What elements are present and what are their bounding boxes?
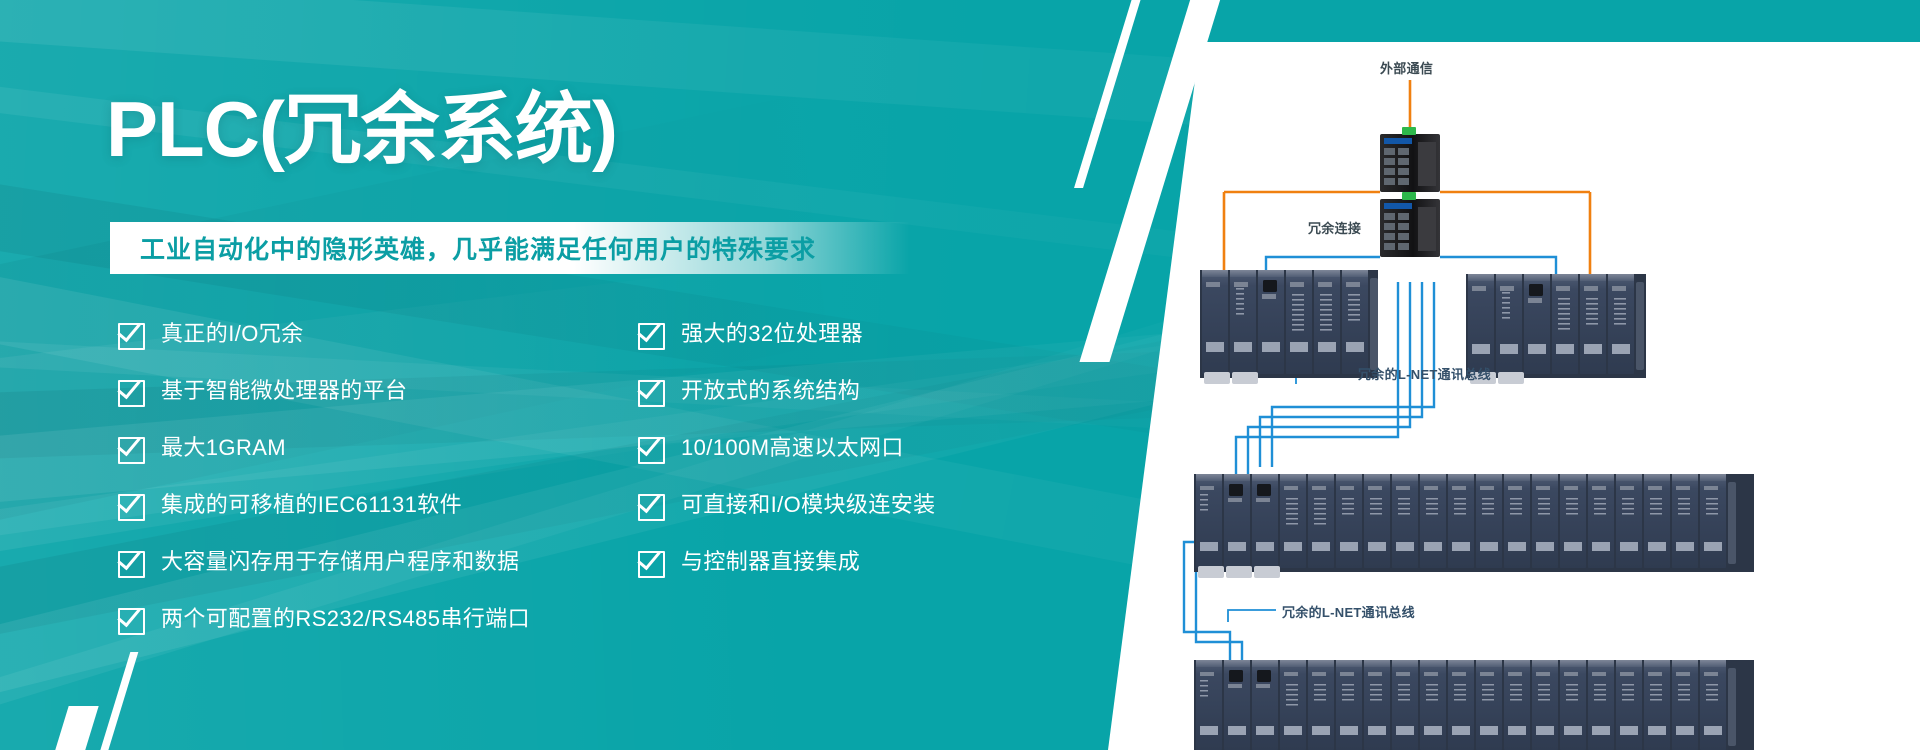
feature-label: 可直接和I/O模块级连安装	[681, 491, 936, 518]
feature-label: 强大的32位处理器	[681, 320, 863, 347]
list-item: 集成的可移植的IEC61131软件	[118, 491, 638, 548]
checkbox-checked-icon	[638, 323, 665, 350]
diagram-svg	[1108, 42, 1920, 750]
feature-label: 大容量闪存用于存储用户程序和数据	[161, 548, 519, 575]
diagram-label-redundant-link: 冗余连接	[1308, 218, 1361, 237]
subtitle-bar: 工业自动化中的隐形英雄，几乎能满足任何用户的特殊要求	[110, 222, 910, 274]
list-item: 最大1GRAM	[118, 434, 638, 491]
feature-label: 基于智能微处理器的平台	[161, 377, 407, 404]
feature-label: 最大1GRAM	[161, 434, 286, 461]
list-item: 与控制器直接集成	[638, 548, 1088, 605]
feature-column-left: 真正的I/O冗余 基于智能微处理器的平台 最大1GRAM 集成的可移植的IEC6…	[118, 320, 638, 662]
list-item: 强大的32位处理器	[638, 320, 1088, 377]
checkbox-checked-icon	[118, 437, 145, 464]
checkbox-checked-icon	[638, 494, 665, 521]
feature-label: 两个可配置的RS232/RS485串行端口	[161, 605, 530, 632]
checkbox-checked-icon	[118, 608, 145, 635]
banner-content: PLC(冗余系统) 工业自动化中的隐形英雄，几乎能满足任何用户的特殊要求 真正的…	[0, 0, 1120, 750]
feature-column-right: 强大的32位处理器 开放式的系统结构 10/100M高速以太网口 可直接和I/O…	[638, 320, 1088, 662]
list-item: 两个可配置的RS232/RS485串行端口	[118, 605, 638, 662]
diagram-label-lnet-bus-upper: 冗余的L-NET通讯总线	[1358, 364, 1491, 383]
feature-label: 集成的可移植的IEC61131软件	[161, 491, 462, 518]
plc-product-banner: PLC(冗余系统) 工业自动化中的隐形英雄，几乎能满足任何用户的特殊要求 真正的…	[0, 0, 1920, 750]
feature-label: 开放式的系统结构	[681, 377, 860, 404]
diagram-label-external-comm: 外部通信	[1380, 58, 1433, 77]
list-item: 10/100M高速以太网口	[638, 434, 1088, 491]
subtitle-text: 工业自动化中的隐形英雄，几乎能满足任何用户的特殊要求	[140, 230, 816, 266]
plc-rack-upper-right	[1466, 274, 1646, 384]
page-title: PLC(冗余系统)	[106, 90, 617, 168]
checkbox-checked-icon	[638, 437, 665, 464]
plc-rack-middle	[1194, 474, 1754, 578]
feature-label: 10/100M高速以太网口	[681, 434, 904, 461]
checkbox-checked-icon	[118, 323, 145, 350]
checkbox-checked-icon	[118, 494, 145, 521]
feature-list: 真正的I/O冗余 基于智能微处理器的平台 最大1GRAM 集成的可移植的IEC6…	[118, 320, 1098, 662]
checkbox-checked-icon	[638, 551, 665, 578]
plc-rack-lower	[1194, 660, 1754, 750]
list-item: 真正的I/O冗余	[118, 320, 638, 377]
feature-label: 真正的I/O冗余	[161, 320, 304, 347]
checkbox-checked-icon	[118, 551, 145, 578]
network-switch-redundant	[1380, 192, 1440, 257]
list-item: 可直接和I/O模块级连安装	[638, 491, 1088, 548]
network-switch-top	[1380, 127, 1440, 192]
plc-network-diagram: 外部通信 冗余连接 冗余的L-NET通讯总线 冗余的L-NET通讯总线	[1108, 42, 1920, 750]
plc-rack-upper-left	[1200, 270, 1378, 384]
feature-label: 与控制器直接集成	[681, 548, 860, 575]
diagram-label-lnet-bus-lower: 冗余的L-NET通讯总线	[1282, 602, 1415, 621]
list-item: 基于智能微处理器的平台	[118, 377, 638, 434]
list-item: 大容量闪存用于存储用户程序和数据	[118, 548, 638, 605]
checkbox-checked-icon	[118, 380, 145, 407]
checkbox-checked-icon	[638, 380, 665, 407]
list-item: 开放式的系统结构	[638, 377, 1088, 434]
